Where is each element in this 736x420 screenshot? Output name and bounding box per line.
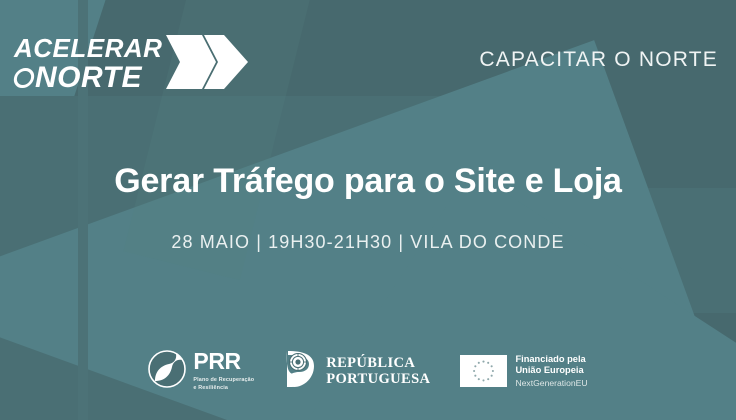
eu-flag-icon (460, 355, 507, 387)
prr-title: PRR (193, 350, 254, 373)
event-details: 28 MAIO | 19H30-21H30 | VILA DO CONDE (0, 232, 736, 253)
header-tagline: CAPACITAR O NORTE (479, 48, 718, 72)
prr-subtitle-line1: Plano de Recuperação (193, 377, 254, 383)
acelerar-norte-logo: ACELERAR NORTE (14, 30, 250, 98)
eu-funding-logo: Financiado pela União Europeia NextGener… (460, 354, 587, 388)
prr-text-block: PRR Plano de Recuperação e Resiliência (193, 350, 254, 392)
event-poster: ACELERAR NORTE CAPACITAR O NORTE Gerar T… (0, 0, 736, 420)
poster-header: ACELERAR NORTE CAPACITAR O NORTE (0, 0, 736, 108)
funding-logos: PRR Plano de Recuperação e Resiliência (0, 340, 736, 402)
logo-line-norte: NORTE (35, 63, 142, 93)
double-chevron-right-icon (164, 31, 250, 98)
portugal-shield-emblem-icon (284, 348, 318, 395)
prr-subtitle: Plano de Recuperação e Resiliência (193, 376, 254, 392)
eu-funding-text: Financiado pela União Europeia NextGener… (515, 354, 587, 388)
eu-line2: União Europeia (515, 365, 587, 376)
republica-line2: PORTUGUESA (326, 371, 430, 387)
eu-line1: Financiado pela (515, 354, 587, 365)
logo-wordmark: ACELERAR NORTE (14, 35, 162, 93)
eu-next-generation-label: NextGenerationEU (515, 378, 587, 388)
logo-circle-o-icon (12, 68, 36, 88)
republica-portuguesa-logo: REPÚBLICA PORTUGUESA (284, 348, 430, 395)
logo-line-norte-row: NORTE (14, 63, 162, 93)
logo-line-acelerar: ACELERAR (14, 35, 162, 61)
prr-logo: PRR Plano de Recuperação e Resiliência (148, 350, 254, 393)
republica-line1: REPÚBLICA (326, 355, 415, 371)
prr-subtitle-line2: e Resiliência (193, 385, 228, 391)
event-title: Gerar Tráfego para o Site e Loja (0, 162, 736, 201)
prr-globe-icon (148, 350, 186, 393)
republica-portuguesa-text: REPÚBLICA PORTUGUESA (326, 355, 430, 387)
